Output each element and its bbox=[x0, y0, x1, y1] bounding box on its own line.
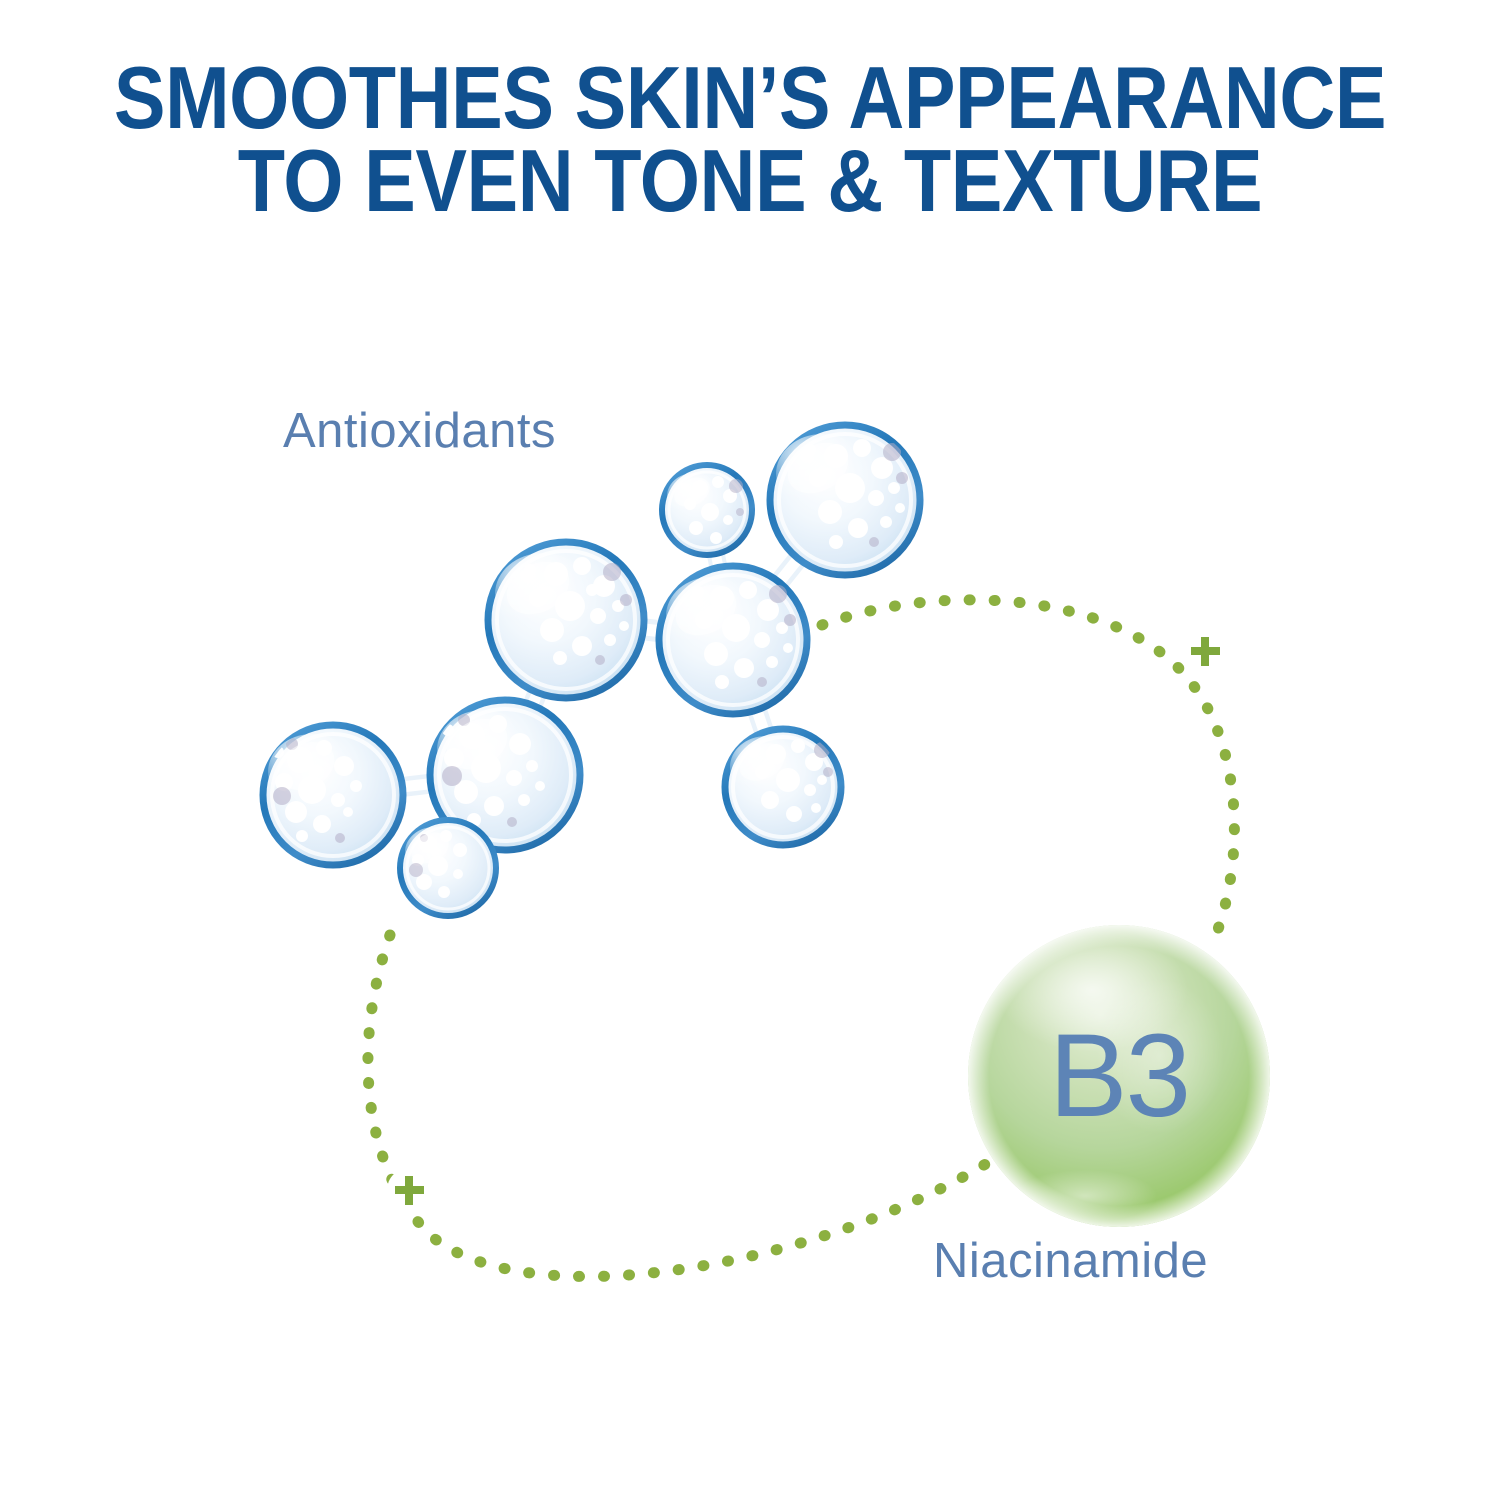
antioxidant-bubble bbox=[488, 542, 644, 698]
b3-sphere-label: B3 bbox=[1049, 1010, 1189, 1142]
antioxidant-bubble bbox=[400, 820, 496, 916]
antioxidants-label: Antioxidants bbox=[283, 403, 556, 459]
antioxidant-bubble bbox=[725, 729, 841, 845]
niacinamide-label: Niacinamide bbox=[933, 1233, 1208, 1289]
antioxidant-bubble bbox=[662, 465, 752, 555]
infographic-canvas: SMOOTHES SKIN’S APPEARANCE TO EVEN TONE … bbox=[0, 0, 1500, 1500]
ingredient-diagram: B3 bbox=[0, 0, 1500, 1500]
b3-sphere-icon: B3 bbox=[968, 925, 1270, 1227]
antioxidants-to-niacinamide-arc bbox=[822, 600, 1234, 945]
antioxidant-bubble bbox=[263, 725, 403, 865]
antioxidant-bubble bbox=[770, 425, 920, 575]
niacinamide-to-antioxidants-arc bbox=[368, 935, 1000, 1276]
antioxidant-bubble bbox=[659, 566, 807, 714]
